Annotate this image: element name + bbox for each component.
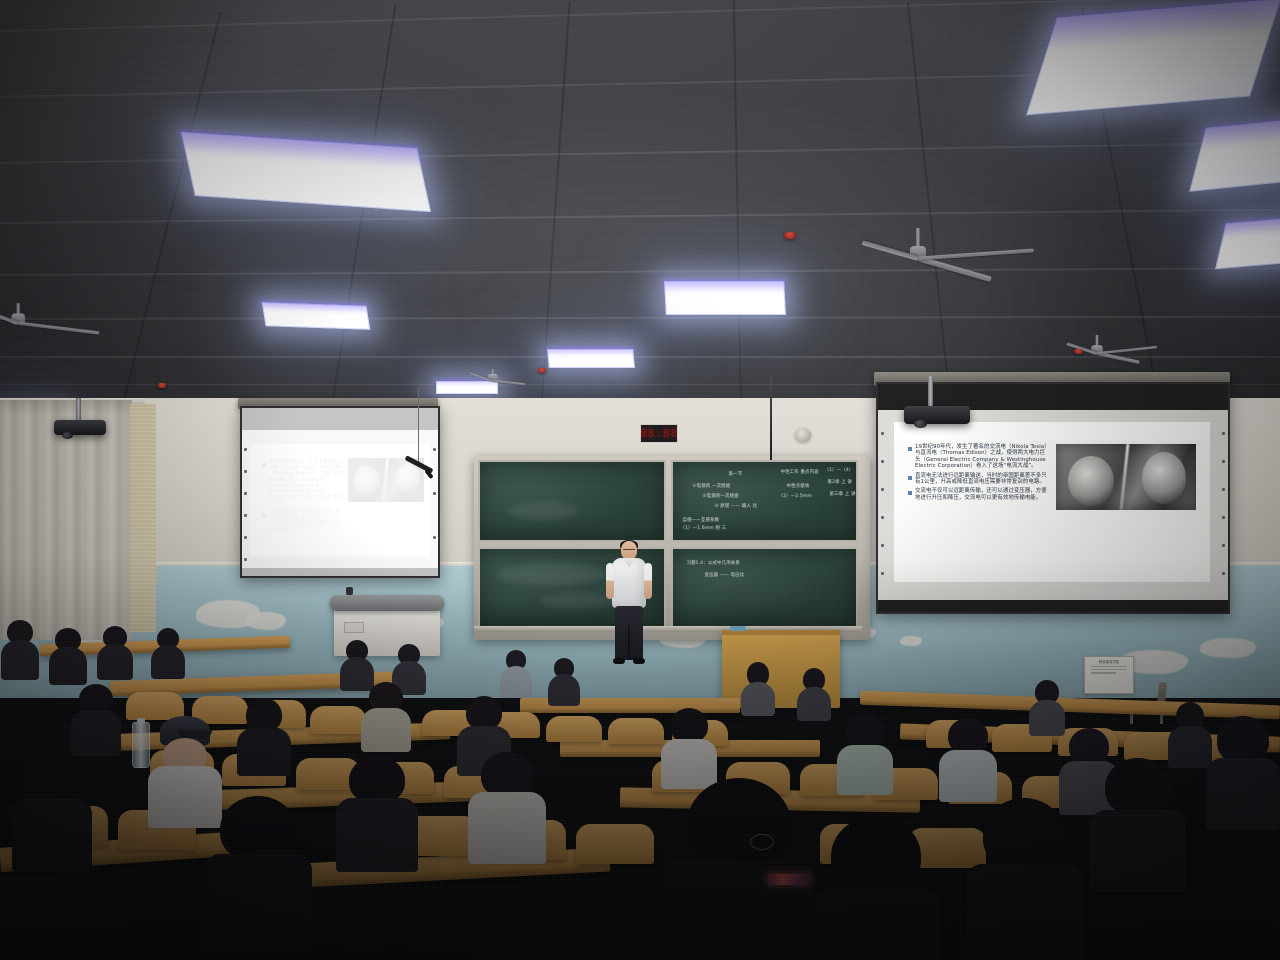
- student: [966, 798, 1082, 960]
- bullet-marker-icon: [908, 491, 912, 495]
- right-slide-content: 19世纪90年代，发生了著名的交流电（Nikola Tesla）与直流电（Tho…: [894, 422, 1210, 582]
- chalk-line: 中性工作 重点内容: [781, 470, 819, 477]
- slide-photo-tesla-edison: [1056, 444, 1196, 510]
- chalk-line: （1）—1.6mm 相 三: [681, 526, 727, 533]
- ceiling-led-panel: [1215, 213, 1280, 269]
- chalk-line: 习题1.4：公式中几项关系: [687, 561, 741, 568]
- smoke-detector-icon: [1074, 349, 1083, 354]
- student: [500, 650, 532, 692]
- right-ceiling-projector: [902, 376, 972, 428]
- smartphone[interactable]: [768, 874, 810, 885]
- ceiling-fan: [10, 303, 121, 339]
- smoke-detector-icon: [158, 383, 166, 388]
- chalk-line: （2）—2.5mm: [779, 494, 812, 501]
- chalk-line: 第2章 上 讲: [828, 480, 853, 487]
- ceiling-led-panel: [664, 281, 786, 315]
- blackboard-panel-top-left: [478, 460, 666, 542]
- chalk-line: （1）—（4）: [825, 468, 854, 475]
- student: [48, 628, 88, 676]
- led-wall-clock: 88:88: [640, 424, 678, 443]
- blackboard: 第一节 ①电源的 一次绕组 ②电源的一次绕组 ③ 原理 —— 输入 比 自感——…: [478, 460, 858, 628]
- student: [740, 662, 776, 708]
- student: [236, 698, 292, 768]
- wall-panel: [130, 404, 156, 632]
- student: [660, 708, 718, 782]
- student: [836, 714, 894, 788]
- student: [12, 756, 92, 866]
- student: [336, 756, 418, 866]
- chalk-line: 自感——互感系数: [683, 518, 720, 525]
- student: [938, 718, 998, 794]
- student: [204, 796, 312, 946]
- bullet-marker-icon: [908, 476, 912, 480]
- left-ceiling-projector: [52, 398, 108, 442]
- ceiling-led-panel: [262, 302, 370, 330]
- ceiling-fan: [896, 228, 1046, 278]
- lecturer-left-arm: [606, 563, 614, 599]
- slide-bullet-text: 直流电无法进行远距离输送，当时的帝国距离差不多只有1公里，升高或降低直流电压需要…: [915, 473, 1050, 486]
- student: [468, 752, 546, 860]
- student: [96, 626, 134, 672]
- student: [0, 620, 40, 670]
- lecturer-right-arm: [644, 563, 652, 599]
- slide-bullet-text: 交流电不仅可以远距离传输，还可以通过变压器，方便地进行升压和降压，交流电可以更有…: [915, 488, 1050, 501]
- seat-back: [310, 706, 366, 734]
- board-pointer-rod: [770, 376, 772, 460]
- left-projection-screen[interactable]: 19世纪90年代，发生了著名的交流电（Nikola Tesla）与直流电（Tho…: [240, 406, 440, 578]
- student: [150, 628, 186, 672]
- water-bottle: [132, 722, 150, 768]
- tiered-seating: [0, 610, 1280, 960]
- student: [340, 640, 374, 684]
- student: [360, 682, 412, 746]
- smoke-detector-icon: [784, 232, 796, 239]
- ceiling-led-panel: [547, 349, 635, 368]
- chalk-line: 中性点接地: [787, 484, 810, 491]
- slide-bullet-text: 19世纪90年代，发生了著名的交流电（Nikola Tesla）与直流电（Tho…: [915, 444, 1050, 470]
- seat-back: [546, 716, 602, 742]
- chalk-line: ①电源的 一次绕组: [693, 484, 731, 491]
- chalk-line: 变压器 —— 电压比: [705, 573, 745, 580]
- bullet-marker-icon: [908, 447, 912, 451]
- student: [548, 658, 580, 700]
- student: [812, 816, 940, 960]
- desk-microphone: [346, 587, 353, 595]
- ceiling-fan: [1075, 335, 1154, 361]
- student-using-phone: [664, 778, 814, 960]
- smoke-detector-icon: [538, 368, 546, 373]
- chalk-line: 第三章 上 讲: [830, 492, 856, 499]
- glasses-icon: [750, 834, 774, 850]
- ceiling: [0, 0, 1280, 412]
- glasses-icon: [623, 549, 635, 553]
- student: [1206, 716, 1280, 826]
- blackboard-panel-top-right: 第一节 ①电源的 一次绕组 ②电源的一次绕组 ③ 原理 —— 输入 比 自感——…: [671, 460, 859, 542]
- wall-speaker: [795, 428, 811, 442]
- student: [796, 668, 832, 714]
- student: [70, 684, 122, 750]
- chalk-line: ②电源的一次绕组: [703, 494, 739, 501]
- student: [1090, 758, 1186, 884]
- ceiling-led-panel: [1026, 0, 1280, 115]
- seat-back: [608, 718, 664, 744]
- student: [1028, 680, 1066, 728]
- ceiling-fan: [470, 369, 524, 385]
- screen-pull-cord[interactable]: [418, 388, 419, 466]
- overexposure-overlay: [242, 408, 438, 576]
- lecture-hall-photo: 19世纪90年代，发生了著名的交流电（Nikola Tesla）与直流电（Tho…: [0, 0, 1280, 960]
- seat-back: [576, 824, 654, 864]
- chalk-line: ③ 原理 —— 输入 比: [715, 504, 758, 511]
- clock-display: 88:88: [640, 427, 678, 440]
- chalk-line: 第一节: [729, 472, 743, 479]
